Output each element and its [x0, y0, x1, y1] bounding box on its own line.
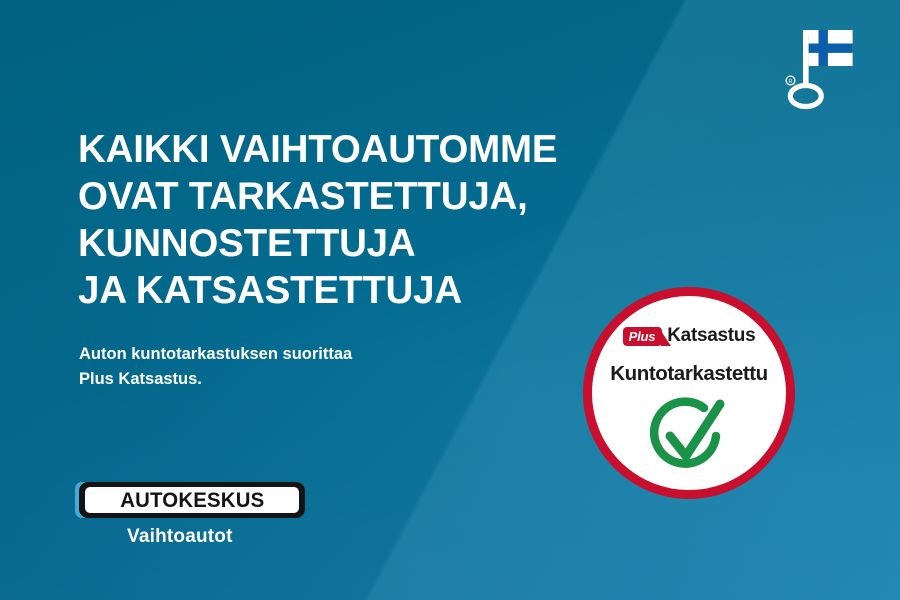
registered-trademark-symbol: R	[789, 79, 793, 85]
subtitle-line-2: Plus Katsastus.	[79, 367, 499, 392]
inspection-badge: Plus Katsastus Kuntotarkastettu	[583, 287, 795, 499]
badge-claim-label: Kuntotarkastettu	[592, 362, 786, 386]
logo-wordmark: AUTOKESKUS	[120, 490, 264, 511]
headline: KAIKKI VAIHTOAUTOMME OVAT TARKASTETTUJA,…	[78, 126, 678, 314]
logo-sub-label: Vaihtoautot	[127, 526, 233, 548]
subtitle-line-1: Auton kuntotarkastuksen suorittaa	[79, 342, 499, 367]
subtitle: Auton kuntotarkastuksen suorittaa Plus K…	[79, 342, 499, 392]
headline-line-4: JA KATSASTETTUJA	[78, 267, 678, 314]
headline-line-2: OVAT TARKASTETTUJA,	[78, 173, 678, 220]
plus-logo-text: Plus	[629, 330, 656, 343]
headline-line-1: KAIKKI VAIHTOAUTOMME	[78, 126, 678, 173]
headline-line-3: KUNNOSTETTUJA	[78, 220, 678, 267]
autokeskus-logo[interactable]: AUTOKESKUS Vaihtoautot	[75, 478, 315, 558]
plus-logo-tail	[661, 331, 671, 346]
badge-brand-row: Plus Katsastus	[592, 325, 786, 347]
plus-logo-mark: Plus	[623, 327, 663, 346]
circle-check-icon	[592, 394, 786, 480]
logo-plate: AUTOKESKUS	[79, 482, 305, 518]
marketing-banner: R KAIKKI VAIHTOAUTOMME OVAT TARKASTETTUJ…	[0, 0, 900, 600]
katsastus-wordmark: Katsastus	[667, 325, 755, 347]
logo-plate-face: AUTOKESKUS	[85, 487, 299, 513]
avainlippu-key-flag-icon: R	[782, 24, 878, 110]
